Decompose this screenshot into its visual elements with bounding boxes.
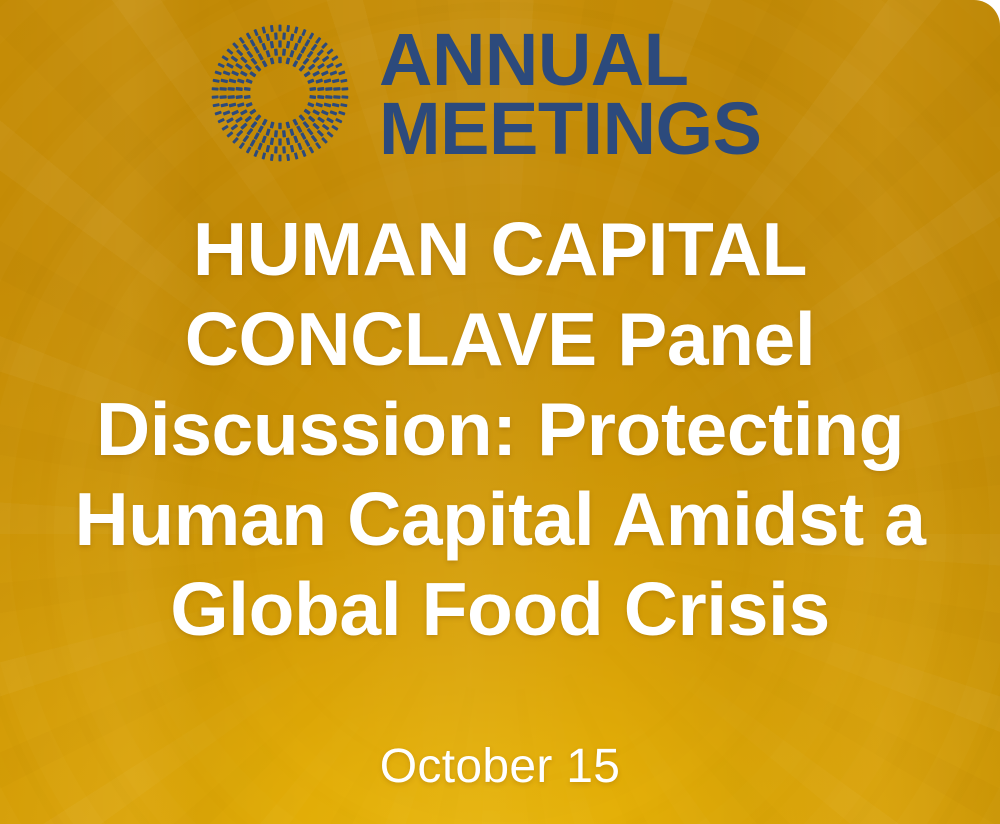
annual-meetings-wordmark: ANNUAL MEETINGS bbox=[379, 22, 761, 164]
title-line-3: Discussion: Protecting bbox=[18, 384, 982, 474]
wordmark-line-annual: ANNUAL bbox=[379, 26, 761, 95]
annual-meetings-logo-lockup: ANNUAL MEETINGS bbox=[205, 18, 761, 168]
event-date-label: October 15 bbox=[0, 742, 1000, 792]
title-line-5: Global Food Crisis bbox=[18, 564, 982, 654]
wordmark-line-meetings: MEETINGS bbox=[379, 95, 761, 164]
event-title: HUMAN CAPITAL CONCLAVE Panel Discussion:… bbox=[0, 204, 1000, 654]
annual-meetings-radial-sunburst-logo-icon bbox=[205, 18, 355, 168]
annual-meetings-event-banner: MALAWIMOZAMBIQUEMYANMARISLANDSMALINIGERC… bbox=[0, 0, 1000, 824]
title-line-4: Human Capital Amidst a bbox=[18, 474, 982, 564]
title-line-2: CONCLAVE Panel bbox=[18, 294, 982, 384]
title-line-1: HUMAN CAPITAL bbox=[18, 204, 982, 294]
